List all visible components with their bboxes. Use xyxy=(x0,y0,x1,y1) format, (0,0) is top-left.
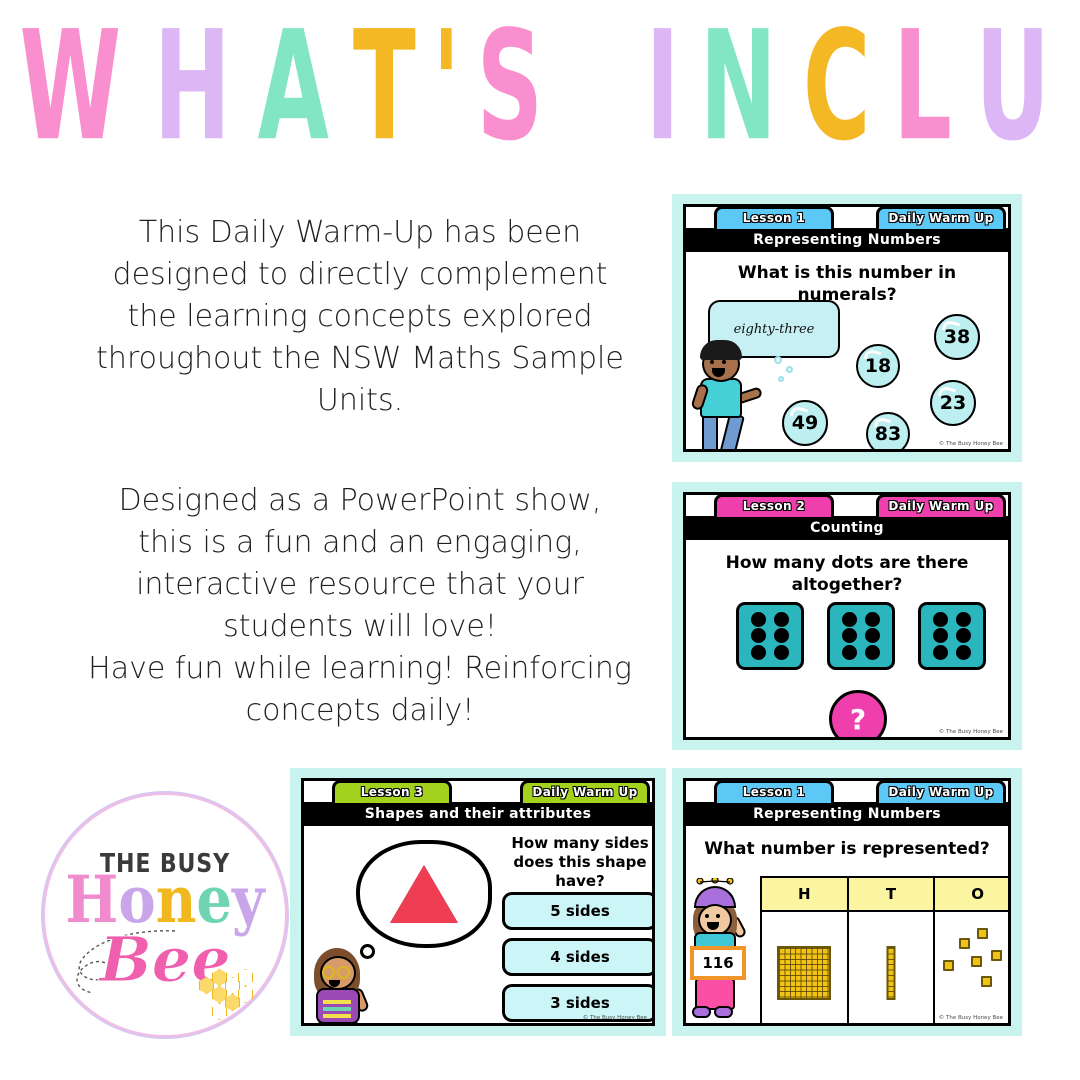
girl-illustration xyxy=(312,938,376,1026)
title-letter: I xyxy=(646,0,679,176)
boy-leg-right xyxy=(719,413,745,452)
dice-pip xyxy=(774,612,789,627)
queen-illustration: 116 xyxy=(690,874,750,1024)
answer-option[interactable]: 4 sides xyxy=(502,938,655,976)
slide-question: How many dots are there altogether? xyxy=(686,552,1008,596)
dice-pip xyxy=(751,628,766,643)
brand-logo: THE BUSY Honey Bee xyxy=(45,795,285,1035)
slide-tabs: Lesson 2 Daily Warm Up xyxy=(686,495,1008,516)
number-bubble[interactable]: 49 xyxy=(782,400,828,446)
slide-question: How many sides does this shape have? xyxy=(500,834,655,891)
title-letter: N xyxy=(700,0,776,176)
dice-pip xyxy=(933,645,948,660)
number-bubble[interactable]: 23 xyxy=(930,380,976,426)
ones-cell xyxy=(935,912,1011,1026)
dice-pip xyxy=(842,612,857,627)
slide-thumbnail-shapes-attributes[interactable]: Lesson 3 Daily Warm Up Shapes and their … xyxy=(290,768,666,1036)
girl-shirt-stripe xyxy=(323,1000,351,1004)
copyright-notice: © The Busy Honey Bee xyxy=(939,1015,1003,1021)
place-value-header-hundreds: H xyxy=(762,878,849,910)
slide-title-bar: Shapes and their attributes xyxy=(304,802,652,826)
dice-pip xyxy=(933,628,948,643)
dice-pip xyxy=(865,645,880,660)
paragraph-line: This Daily Warm-Up has been xyxy=(60,212,660,254)
paragraph-line: throughout the NSW Maths Sample xyxy=(60,338,660,380)
title-letter: U xyxy=(976,0,1049,176)
dice-pip xyxy=(751,612,766,627)
paragraph-line: interactive resource that your xyxy=(60,564,660,606)
place-value-header-row: H T O xyxy=(762,878,1011,912)
slide-content: How many dots are there altogether? ? xyxy=(686,540,1008,737)
girl-legs xyxy=(315,1022,361,1026)
slide-tabs: Lesson 1 Daily Warm Up xyxy=(686,207,1008,228)
paragraph-line: Units. xyxy=(60,380,660,422)
dice-pip xyxy=(774,645,789,660)
slide-frame: Lesson 1 Daily Warm Up Representing Numb… xyxy=(683,778,1011,1026)
thought-bubble xyxy=(356,840,492,948)
number-sign: 116 xyxy=(690,946,746,980)
title-letter: ' xyxy=(432,0,459,176)
ones-unit-block xyxy=(943,960,954,971)
slide-title-bar: Counting xyxy=(686,516,1008,540)
lesson-tab[interactable]: Lesson 1 xyxy=(714,206,834,229)
boy-shirt xyxy=(700,378,742,418)
boy-hair xyxy=(700,340,742,360)
triangle-shape xyxy=(390,865,458,923)
ones-unit-block xyxy=(981,976,992,987)
daily-warm-up-tab[interactable]: Daily Warm Up xyxy=(876,780,1006,803)
boy-leg-left xyxy=(702,414,718,452)
paragraph-line: the learning concepts explored xyxy=(60,296,660,338)
answer-option[interactable]: 5 sides xyxy=(502,892,655,930)
girl-glasses-right xyxy=(337,966,350,979)
lesson-tab[interactable]: Lesson 3 xyxy=(332,780,452,803)
dice-six[interactable] xyxy=(918,602,986,670)
queen-shoe-left xyxy=(692,1006,711,1018)
number-bubble[interactable]: 38 xyxy=(934,314,980,360)
tens-cell xyxy=(849,912,936,1026)
dice-pip xyxy=(933,612,948,627)
slide-question: What number is represented? xyxy=(686,838,1008,860)
dice-pip xyxy=(842,628,857,643)
daily-warm-up-tab[interactable]: Daily Warm Up xyxy=(876,206,1006,229)
soap-bubble xyxy=(774,356,782,364)
boy-illustration xyxy=(696,332,772,452)
girl-glasses-left xyxy=(322,966,335,979)
paragraph-line: concepts daily! xyxy=(60,690,660,732)
boy-shoe-right xyxy=(725,449,749,452)
dice-pip xyxy=(865,612,880,627)
slide-frame: Lesson 2 Daily Warm Up Counting How many… xyxy=(683,492,1011,740)
copyright-notice: © The Busy Honey Bee xyxy=(583,1015,647,1021)
paragraph-line: designed to directly complement xyxy=(60,254,660,296)
queen-shoe-right xyxy=(714,1006,733,1018)
title-letter: H xyxy=(154,0,230,176)
copyright-notice: © The Busy Honey Bee xyxy=(939,729,1003,735)
queen-eye-right xyxy=(716,914,720,918)
boy-eye-left xyxy=(710,360,714,364)
slide-frame: Lesson 3 Daily Warm Up Shapes and their … xyxy=(301,778,655,1026)
slide-title-bar: Representing Numbers xyxy=(686,802,1008,826)
title-letter: L xyxy=(893,0,950,176)
copyright-notice: © The Busy Honey Bee xyxy=(939,441,1003,447)
dice-pip xyxy=(956,628,971,643)
dice-six[interactable] xyxy=(827,602,895,670)
hundreds-cell xyxy=(762,912,849,1026)
honeycomb-icon xyxy=(199,967,259,1007)
place-value-header-ones: O xyxy=(935,878,1011,910)
dice-pip xyxy=(956,645,971,660)
paragraph-line: this is a fun and an engaging, xyxy=(60,522,660,564)
slide-tabs: Lesson 1 Daily Warm Up xyxy=(686,781,1008,802)
girl-shirt xyxy=(316,988,360,1024)
slide-thumbnail-counting[interactable]: Lesson 2 Daily Warm Up Counting How many… xyxy=(672,482,1022,750)
title-letter: C xyxy=(803,0,869,176)
dice-pip xyxy=(865,628,880,643)
soap-bubble xyxy=(786,366,793,373)
daily-warm-up-tab[interactable]: Daily Warm Up xyxy=(520,780,650,803)
slide-thumbnail-representing-numbers-2[interactable]: Lesson 1 Daily Warm Up Representing Numb… xyxy=(672,768,1022,1036)
queen-eye-left xyxy=(705,914,709,918)
boy-eye-right xyxy=(722,360,726,364)
soap-bubble xyxy=(778,376,784,382)
dice-pip xyxy=(751,645,766,660)
slide-content: What number is represented? xyxy=(686,826,1008,1023)
poster-canvas: WHAT'S INCLUDED This Daily Warm-Up has b… xyxy=(0,0,1080,1080)
slide-thumbnail-representing-numbers-1[interactable]: Lesson 1 Daily Warm Up Representing Numb… xyxy=(672,194,1022,462)
tens-rod-block xyxy=(887,946,896,1000)
daily-warm-up-tab[interactable]: Daily Warm Up xyxy=(876,494,1006,517)
title-letter xyxy=(566,0,627,176)
place-value-header-tens: T xyxy=(849,878,936,910)
title-letter: T xyxy=(353,0,414,176)
slide-frame: Lesson 1 Daily Warm Up Representing Numb… xyxy=(683,204,1011,452)
lesson-tab[interactable]: Lesson 2 xyxy=(714,494,834,517)
place-value-body-row xyxy=(762,912,1011,1026)
title-letter: W xyxy=(19,0,119,176)
paragraph-line: Designed as a PowerPoint show, xyxy=(60,480,660,522)
slide-title-bar: Representing Numbers xyxy=(686,228,1008,252)
dice-pip xyxy=(842,645,857,660)
number-bubble[interactable]: 18 xyxy=(856,344,900,388)
intro-paragraph-1: This Daily Warm-Up has beendesigned to d… xyxy=(60,212,660,422)
paragraph-line: students will love! xyxy=(60,606,660,648)
ones-unit-block xyxy=(991,950,1002,961)
paragraph-line: Have fun while learning! Reinforcing xyxy=(60,648,660,690)
ones-unit-block xyxy=(977,928,988,939)
page-title: WHAT'S INCLUDED xyxy=(0,26,1080,176)
dice-six[interactable] xyxy=(736,602,804,670)
girl-shirt-stripe xyxy=(323,1014,351,1018)
place-value-table: H T O xyxy=(760,876,1011,1026)
intro-paragraph-2: Designed as a PowerPoint show,this is a … xyxy=(60,480,660,732)
ones-unit-block xyxy=(959,938,970,949)
title-letter: A xyxy=(258,0,328,176)
ones-unit-block xyxy=(971,956,982,967)
slide-tabs: Lesson 3 Daily Warm Up xyxy=(304,781,652,802)
number-bubble[interactable]: 83 xyxy=(866,412,910,452)
lesson-tab[interactable]: Lesson 1 xyxy=(714,780,834,803)
slide-content: What is this number in numerals? eighty-… xyxy=(686,252,1008,449)
hundreds-flat-block xyxy=(777,946,831,1000)
answer-reveal-button[interactable]: ? xyxy=(829,690,887,740)
dice-pip xyxy=(774,628,789,643)
slide-content: How many sides does this shape have? 5 s… xyxy=(304,826,652,1023)
girl-shirt-stripe xyxy=(323,1007,351,1011)
dice-pip xyxy=(956,612,971,627)
title-letter: S xyxy=(477,0,542,176)
